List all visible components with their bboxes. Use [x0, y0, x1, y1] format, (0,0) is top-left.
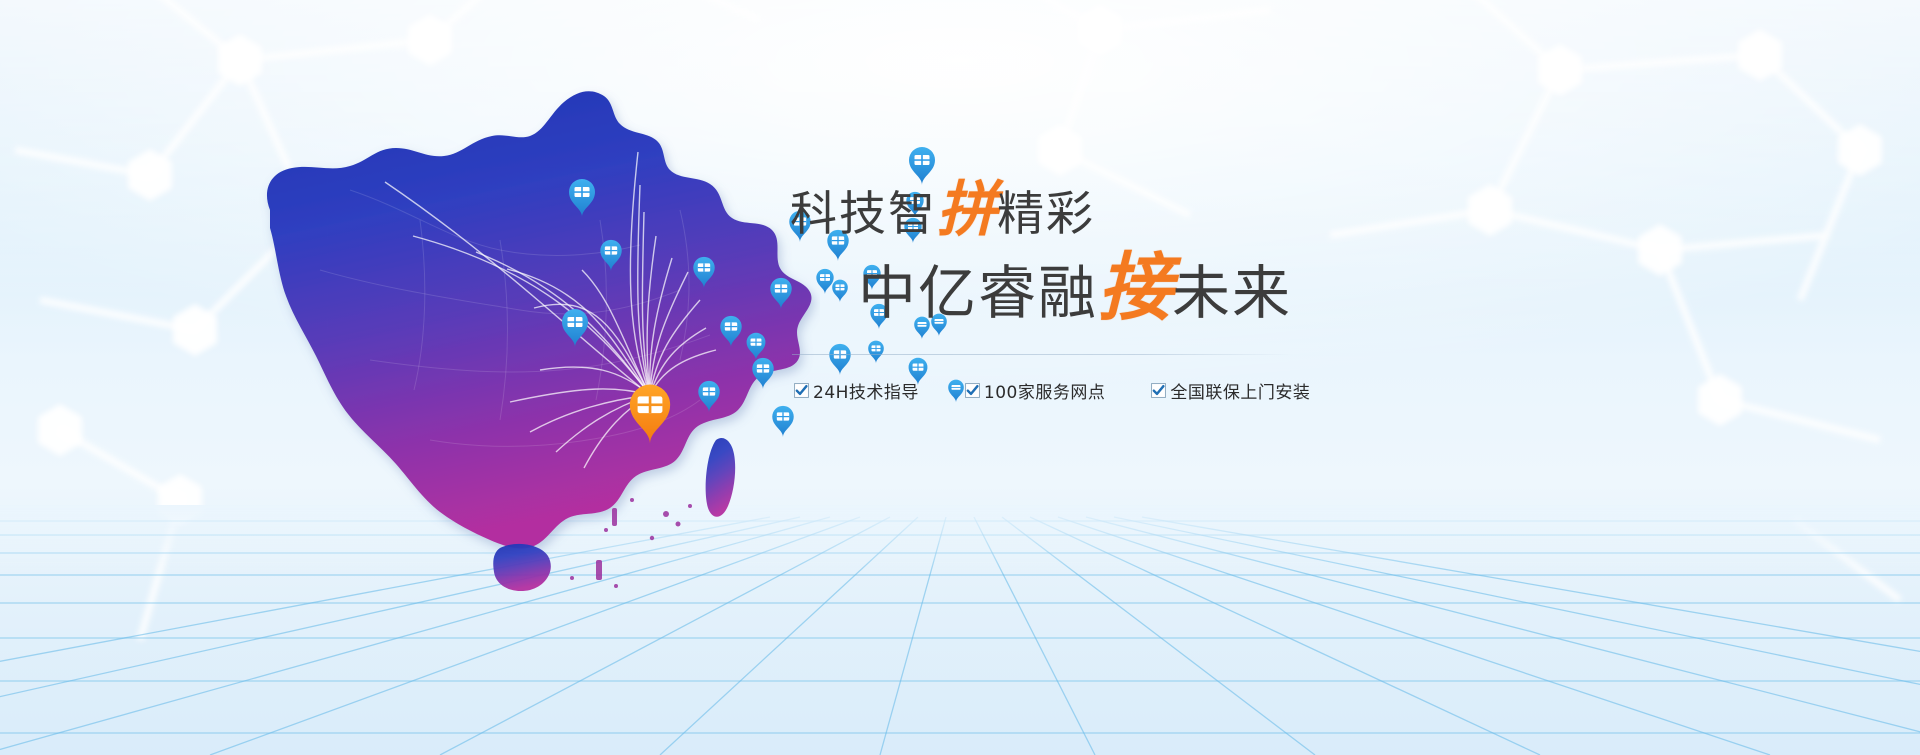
- headline-line-2: 中亿睿融接未来: [780, 249, 1560, 332]
- badge-label: 100家服务网点: [984, 378, 1105, 403]
- screen-window-icon: [725, 322, 737, 330]
- headline-l2-brush-char: 接: [1098, 245, 1172, 331]
- copy-divider: [792, 354, 1292, 355]
- screen-window-icon: [751, 339, 762, 346]
- pin-sichuan[interactable]: [751, 357, 776, 390]
- headline-l1-brush-char: 拼: [937, 175, 997, 245]
- screen-window-icon: [568, 317, 583, 327]
- screen-window-icon: [915, 155, 930, 165]
- screen-window-icon: [638, 396, 663, 413]
- headline-l2-part-3: 未来: [1172, 259, 1292, 327]
- headline-line-1: 科技智拼精彩: [780, 178, 1560, 247]
- badge-100-service-points[interactable]: 100家服务网点: [965, 378, 1105, 403]
- pin-hubei[interactable]: [719, 315, 744, 348]
- copy-block: 科技智拼精彩 中亿睿融接未来 24H技术指导 100家服务网点: [780, 178, 1560, 403]
- taiwan-shape: [706, 438, 736, 517]
- screen-window-icon: [605, 246, 617, 254]
- screen-window-icon: [777, 412, 789, 420]
- badge-24h-support[interactable]: 24H技术指导: [794, 378, 919, 403]
- pin-qinghai[interactable]: [599, 239, 624, 272]
- screen-window-icon: [575, 187, 590, 197]
- headline-l1-part-3: 精彩: [997, 187, 1095, 242]
- screen-window-icon: [703, 387, 715, 395]
- badge-label: 24H技术指导: [813, 378, 919, 403]
- china-map: [200, 40, 820, 620]
- checkbox-checked-icon: [1151, 383, 1166, 398]
- checkbox-checked-icon: [965, 383, 980, 398]
- headline-l1-part-1: 科技智: [790, 187, 937, 242]
- badge-nationwide-installation[interactable]: 全国联保上门安装: [1151, 378, 1310, 403]
- screen-window-icon: [698, 263, 710, 271]
- pin-ningxia[interactable]: [692, 256, 717, 289]
- headline-l2-part-1: 中亿睿融: [858, 259, 1098, 327]
- pin-tibet[interactable]: [560, 308, 590, 348]
- pin-guizhou[interactable]: [697, 380, 722, 413]
- feature-badge-list: 24H技术指导 100家服务网点 全国联保上门安装: [794, 378, 1560, 403]
- badge-label: 全国联保上门安装: [1170, 378, 1310, 403]
- hainan-shape: [493, 544, 551, 591]
- pin-guangdong-hub[interactable]: [626, 383, 674, 445]
- banner-stage: 科技智拼精彩 中亿睿融接未来 24H技术指导 100家服务网点: [0, 0, 1920, 755]
- screen-window-icon: [757, 364, 769, 372]
- checkbox-checked-icon: [794, 383, 809, 398]
- pin-xinjiang[interactable]: [567, 178, 597, 218]
- pin-hunan[interactable]: [771, 405, 796, 438]
